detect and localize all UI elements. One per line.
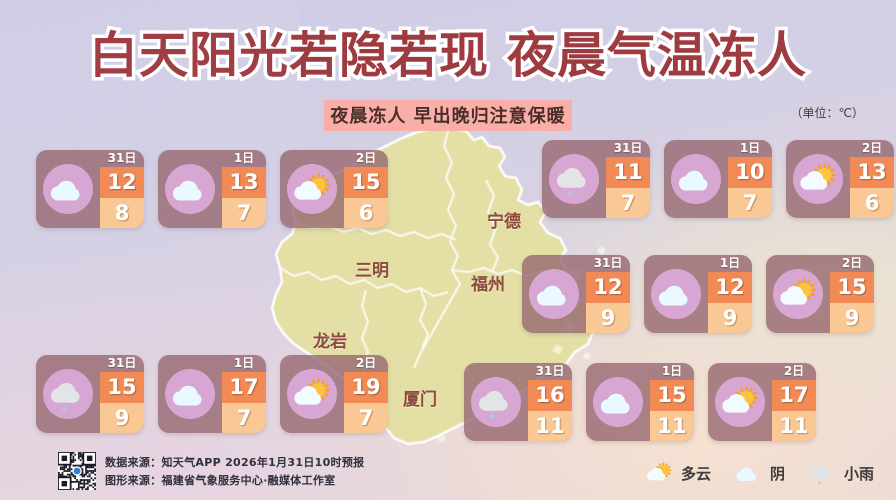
forecast-date: 2日	[344, 150, 388, 167]
temperature-low: 11	[772, 411, 816, 442]
map-city-label-4: 厦门	[403, 385, 437, 410]
forecast-values: 1日129	[708, 255, 752, 333]
forecast-icon-area	[464, 363, 528, 441]
map-city-label-0: 宁德	[487, 207, 521, 232]
forecast-values: 1日1511	[650, 363, 694, 441]
forecast-icon-area	[36, 355, 100, 433]
forecast-values: 2日156	[344, 150, 388, 228]
icon-disc	[471, 377, 521, 427]
icon-disc	[793, 154, 843, 204]
forecast-date: 1日	[222, 355, 266, 372]
map-city-label-3: 龙岩	[313, 327, 347, 352]
forecast-card[interactable]: 1日177	[158, 355, 266, 433]
sanming-northwest-group: 31日1281日1372日156	[36, 150, 388, 228]
overcast-icon	[168, 171, 212, 208]
forecast-values: 2日159	[830, 255, 874, 333]
subtitle-row: 夜晨冻人 早出晚归注意保暖	[0, 100, 896, 131]
light-rain-icon	[807, 461, 837, 486]
temperature-low: 7	[344, 403, 388, 434]
legend-item-0: 多云	[644, 461, 711, 486]
forecast-card[interactable]: 1日137	[158, 150, 266, 228]
forecast-date: 1日	[728, 140, 772, 157]
temperature-high: 19	[344, 372, 388, 403]
ningde-group: 31日1171日1072日136	[542, 140, 894, 218]
forecast-values: 31日129	[586, 255, 630, 333]
forecast-date: 31日	[586, 255, 630, 272]
forecast-date: 2日	[772, 363, 816, 380]
forecast-card[interactable]: 31日128	[36, 150, 144, 228]
overcast-icon	[596, 384, 640, 421]
legend-item-1: 阴	[733, 461, 785, 486]
forecast-icon-area	[786, 140, 850, 218]
forecast-icon-area	[766, 255, 830, 333]
footer-data-source: 数据来源：知天气APP 2026年1月31日10时预报	[105, 454, 364, 470]
temperature-high: 15	[100, 372, 144, 403]
fuzhou-group: 31日1291日1292日159	[522, 255, 874, 333]
partly-cloudy-icon	[718, 384, 762, 421]
partly-cloudy-icon	[290, 171, 334, 208]
temperature-low: 8	[100, 198, 144, 229]
forecast-values: 31日1611	[528, 363, 572, 441]
forecast-card[interactable]: 1日107	[664, 140, 772, 218]
icon-disc	[715, 377, 765, 427]
forecast-card[interactable]: 2日156	[280, 150, 388, 228]
forecast-date: 2日	[830, 255, 874, 272]
footer-graphic-source: 图形来源：福建省气象服务中心·融媒体工作室	[105, 472, 364, 488]
forecast-values: 1日137	[222, 150, 266, 228]
temperature-high: 16	[528, 380, 572, 411]
icon-disc	[43, 369, 93, 419]
forecast-values: 2日1711	[772, 363, 816, 441]
icon-disc	[593, 377, 643, 427]
footer: 数据来源：知天气APP 2026年1月31日10时预报 图形来源：福建省气象服务…	[58, 452, 364, 490]
forecast-icon-area	[36, 150, 100, 228]
legend-label: 阴	[770, 463, 785, 484]
temperature-low: 9	[100, 403, 144, 434]
temperature-low: 7	[222, 403, 266, 434]
temperature-low: 7	[222, 198, 266, 229]
forecast-card[interactable]: 2日136	[786, 140, 894, 218]
forecast-card[interactable]: 2日197	[280, 355, 388, 433]
temperature-high: 15	[344, 167, 388, 198]
forecast-values: 1日107	[728, 140, 772, 218]
map-city-label-1: 福州	[471, 270, 505, 295]
forecast-date: 1日	[650, 363, 694, 380]
forecast-icon-area	[158, 150, 222, 228]
temperature-high: 11	[606, 157, 650, 188]
forecast-values: 31日117	[606, 140, 650, 218]
icon-disc	[773, 269, 823, 319]
temperature-low: 9	[586, 303, 630, 334]
forecast-card[interactable]: 31日129	[522, 255, 630, 333]
partly-cloudy-icon	[290, 376, 334, 413]
icon-disc	[43, 164, 93, 214]
weather-legend: 多云阴小雨	[644, 461, 874, 486]
forecast-date: 2日	[344, 355, 388, 372]
overcast-icon	[654, 276, 698, 313]
temperature-high: 12	[100, 167, 144, 198]
legend-label: 多云	[681, 463, 711, 484]
forecast-date: 1日	[708, 255, 752, 272]
overcast-icon	[46, 171, 90, 208]
light-rain-icon	[46, 376, 90, 413]
forecast-card[interactable]: 1日1511	[586, 363, 694, 441]
forecast-date: 31日	[606, 140, 650, 157]
forecast-icon-area	[664, 140, 728, 218]
icon-disc	[671, 154, 721, 204]
temperature-high: 13	[222, 167, 266, 198]
forecast-icon-area	[158, 355, 222, 433]
forecast-date: 31日	[100, 150, 144, 167]
forecast-date: 31日	[100, 355, 144, 372]
temperature-low: 9	[830, 303, 874, 334]
forecast-values: 1日177	[222, 355, 266, 433]
forecast-date: 1日	[222, 150, 266, 167]
icon-disc	[529, 269, 579, 319]
xiamen-group: 31日16111日15112日1711	[464, 363, 816, 441]
icon-disc	[165, 369, 215, 419]
partly-cloudy-icon	[796, 161, 840, 198]
temperature-high: 17	[222, 372, 266, 403]
forecast-date: 31日	[528, 363, 572, 380]
forecast-icon-area	[542, 140, 606, 218]
overcast-icon	[168, 376, 212, 413]
forecast-card[interactable]: 2日159	[766, 255, 874, 333]
forecast-card[interactable]: 31日159	[36, 355, 144, 433]
icon-disc	[549, 154, 599, 204]
legend-item-2: 小雨	[807, 461, 874, 486]
light-rain-icon	[474, 384, 518, 421]
forecast-card[interactable]: 2日1711	[708, 363, 816, 441]
page-title: 白天阳光若隐若现 夜晨气温冻人	[0, 16, 896, 87]
temperature-low: 9	[708, 303, 752, 334]
partly-cloudy-icon	[776, 276, 820, 313]
overcast-icon	[674, 161, 718, 198]
temperature-low: 7	[728, 188, 772, 219]
temperature-high: 17	[772, 380, 816, 411]
temperature-high: 10	[728, 157, 772, 188]
forecast-values: 2日197	[344, 355, 388, 433]
forecast-values: 31日128	[100, 150, 144, 228]
temperature-high: 15	[650, 380, 694, 411]
overcast-icon	[532, 276, 576, 313]
forecast-icon-area	[280, 355, 344, 433]
forecast-card[interactable]: 31日1611	[464, 363, 572, 441]
forecast-date: 2日	[850, 140, 894, 157]
temperature-low: 6	[850, 188, 894, 219]
forecast-icon-area	[708, 363, 772, 441]
icon-disc	[651, 269, 701, 319]
forecast-card[interactable]: 31日117	[542, 140, 650, 218]
icon-disc	[287, 369, 337, 419]
light-rain-icon	[552, 161, 596, 198]
longyan-group: 31日1591日1772日197	[36, 355, 388, 433]
temperature-high: 12	[708, 272, 752, 303]
temperature-high: 12	[586, 272, 630, 303]
icon-disc	[287, 164, 337, 214]
temperature-low: 7	[606, 188, 650, 219]
forecast-icon-area	[586, 363, 650, 441]
temperature-low: 6	[344, 198, 388, 229]
forecast-values: 31日159	[100, 355, 144, 433]
partly-cloudy-icon	[644, 461, 674, 486]
temperature-high: 15	[830, 272, 874, 303]
temperature-low: 11	[528, 411, 572, 442]
overcast-icon	[733, 461, 763, 486]
forecast-icon-area	[644, 255, 708, 333]
map-city-label-2: 三明	[355, 256, 389, 281]
forecast-values: 2日136	[850, 140, 894, 218]
legend-label: 小雨	[844, 463, 874, 484]
infographic-root: 白天阳光若隐若现 夜晨气温冻人 白天阳光若隐若现 夜晨气温冻人 夜晨冻人 早出晚…	[0, 0, 896, 500]
qr-code-icon[interactable]	[58, 452, 96, 490]
page-subtitle: 夜晨冻人 早出晚归注意保暖	[324, 100, 571, 131]
temperature-low: 11	[650, 411, 694, 442]
forecast-icon-area	[522, 255, 586, 333]
icon-disc	[165, 164, 215, 214]
temperature-high: 13	[850, 157, 894, 188]
forecast-icon-area	[280, 150, 344, 228]
unit-note: （单位：℃）	[791, 104, 864, 121]
forecast-card[interactable]: 1日129	[644, 255, 752, 333]
